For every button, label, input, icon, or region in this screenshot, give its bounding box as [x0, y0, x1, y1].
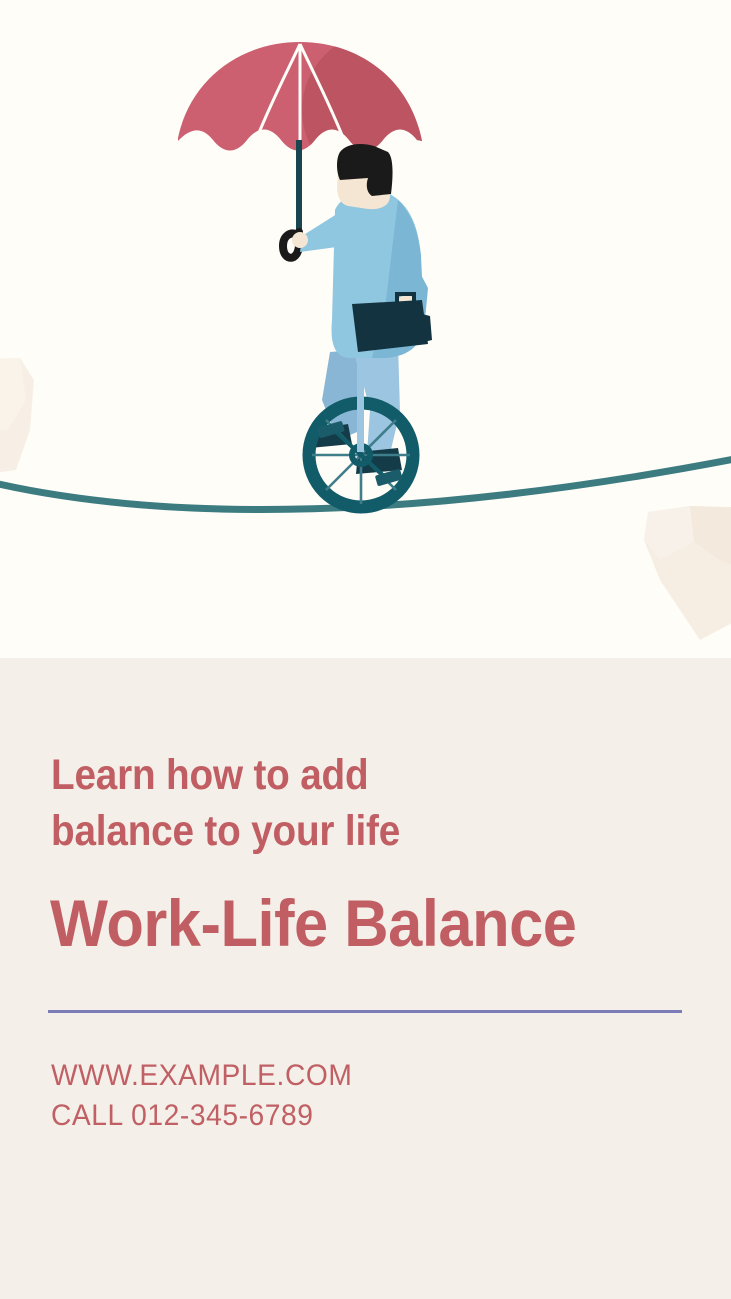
umbrella-hand — [292, 232, 308, 248]
subheadline: Learn how to add balance to your life — [51, 747, 609, 859]
contact-block: WWW.EXAMPLE.COM CALL 012-345-6789 — [51, 1056, 634, 1136]
page-title: Work-Life Balance — [50, 887, 682, 959]
phone-number[interactable]: CALL 012-345-6789 — [51, 1096, 634, 1136]
divider — [48, 1010, 682, 1013]
seat-post — [357, 360, 364, 452]
content-panel: Learn how to add balance to your life Wo… — [0, 658, 731, 1299]
illustration-svg — [0, 0, 731, 658]
website-link[interactable]: WWW.EXAMPLE.COM — [51, 1056, 634, 1096]
poster: Learn how to add balance to your life Wo… — [0, 0, 731, 1299]
illustration-panel — [0, 0, 731, 658]
briefcase-edge — [414, 312, 432, 344]
